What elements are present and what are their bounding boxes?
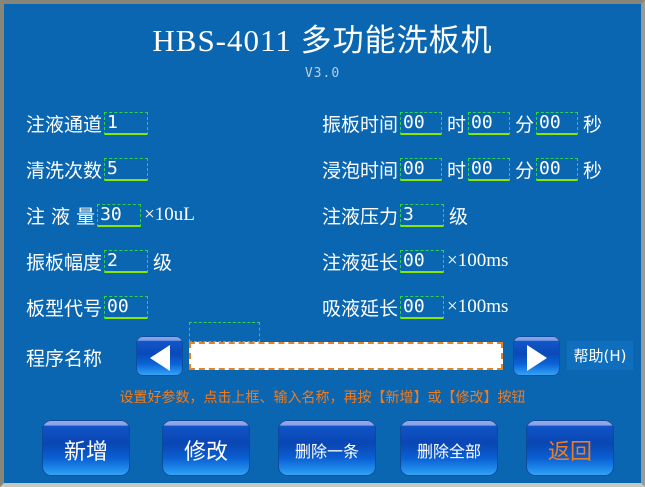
input-plate-code[interactable]: 00 — [104, 296, 148, 319]
delete-one-button[interactable]: 删除一条 — [278, 420, 376, 476]
input-injection-delay[interactable]: 00 — [400, 250, 444, 273]
left-parameter-column: 注液通道 1 清洗次数 5 注 液 量 30 ×10uL 振板幅度 2 级 板型… — [26, 100, 326, 330]
param-row-injection-volume: 注 液 量 30 ×10uL — [26, 192, 326, 238]
unit-aspiration-delay: ×100ms — [446, 296, 508, 318]
action-button-bar: 新增 修改 删除一条 删除全部 返回 — [4, 420, 641, 482]
program-name-row: 程序名称 帮助(H) — [26, 336, 641, 378]
page-title: HBS-4011 多功能洗板机 — [4, 22, 641, 60]
input-soak-time-seconds[interactable]: 00 — [536, 158, 578, 181]
unit-injection-delay: ×100ms — [446, 250, 508, 272]
next-program-button[interactable] — [513, 336, 560, 376]
title-bar: HBS-4011 多功能洗板机 — [4, 22, 641, 60]
param-row-soak-time: 浸泡时间 00 时 00 分 00 秒 — [322, 146, 641, 192]
input-soak-time-hours[interactable]: 00 — [400, 158, 442, 181]
program-name-focus-indicator — [189, 322, 260, 342]
input-wash-count[interactable]: 5 — [104, 158, 148, 181]
label-soak-time: 浸泡时间 — [322, 156, 398, 183]
delete-all-button[interactable]: 删除全部 — [400, 420, 498, 476]
delete-one-button-label: 删除一条 — [295, 438, 359, 462]
unit-shake-amplitude: 级 — [150, 248, 172, 275]
back-button[interactable]: 返回 — [526, 420, 614, 476]
input-injection-pressure[interactable]: 3 — [400, 204, 444, 227]
param-row-plate-code: 板型代号 00 — [26, 284, 326, 330]
unit-injection-volume: ×10uL — [143, 204, 195, 226]
delete-all-button-label: 删除全部 — [417, 438, 481, 462]
application-window: HBS-4011 多功能洗板机 V3.0 注液通道 1 清洗次数 5 注 液 量… — [0, 0, 645, 487]
param-row-shake-time: 振板时间 00 时 00 分 00 秒 — [322, 100, 641, 146]
hint-text: 设置好参数，点击上框、输入名称，再按【新增】或【修改】按钮 — [4, 387, 641, 407]
label-plate-code: 板型代号 — [26, 294, 102, 321]
param-row-aspiration-delay: 吸液延长 00 ×100ms — [322, 284, 641, 330]
input-soak-time-minutes[interactable]: 00 — [468, 158, 510, 181]
input-injection-volume[interactable]: 30 — [97, 204, 141, 227]
input-aspiration-delay[interactable]: 00 — [400, 296, 444, 319]
unit-injection-pressure: 级 — [446, 202, 468, 229]
unit-soak-time-minutes: 分 — [512, 156, 534, 183]
unit-soak-time-hours: 时 — [444, 156, 466, 183]
param-row-injection-pressure: 注液压力 3 级 — [322, 192, 641, 238]
input-shake-time-seconds[interactable]: 00 — [536, 112, 578, 135]
label-aspiration-delay: 吸液延长 — [322, 294, 398, 321]
param-row-injection-delay: 注液延长 00 ×100ms — [322, 238, 641, 284]
right-parameter-column: 振板时间 00 时 00 分 00 秒 浸泡时间 00 时 00 分 00 秒 … — [322, 100, 641, 330]
unit-shake-time-hours: 时 — [444, 110, 466, 137]
add-button-label: 新增 — [64, 434, 108, 466]
back-button-label: 返回 — [548, 434, 592, 466]
unit-soak-time-seconds: 秒 — [580, 156, 602, 183]
previous-program-button[interactable] — [136, 336, 183, 376]
unit-shake-time-minutes: 分 — [512, 110, 534, 137]
input-injection-channel[interactable]: 1 — [104, 112, 148, 135]
triangle-left-icon — [150, 345, 170, 371]
label-program-name: 程序名称 — [26, 344, 102, 371]
add-button[interactable]: 新增 — [42, 420, 130, 476]
param-row-shake-amplitude: 振板幅度 2 级 — [26, 238, 326, 284]
input-shake-amplitude[interactable]: 2 — [104, 250, 148, 273]
version-label: V3.0 — [4, 66, 641, 81]
modify-button-label: 修改 — [184, 434, 228, 466]
help-button[interactable]: 帮助(H) — [567, 341, 633, 370]
label-injection-volume: 注 液 量 — [26, 202, 95, 229]
label-wash-count: 清洗次数 — [26, 156, 102, 183]
input-shake-time-hours[interactable]: 00 — [400, 112, 442, 135]
param-row-wash-count: 清洗次数 5 — [26, 146, 326, 192]
label-injection-pressure: 注液压力 — [322, 202, 398, 229]
label-shake-time: 振板时间 — [322, 110, 398, 137]
program-name-input[interactable] — [189, 342, 503, 370]
unit-shake-time-seconds: 秒 — [580, 110, 602, 137]
param-row-injection-channel: 注液通道 1 — [26, 100, 326, 146]
input-shake-time-minutes[interactable]: 00 — [468, 112, 510, 135]
application-screen: HBS-4011 多功能洗板机 V3.0 注液通道 1 清洗次数 5 注 液 量… — [4, 4, 641, 483]
label-injection-delay: 注液延长 — [322, 248, 398, 275]
label-shake-amplitude: 振板幅度 — [26, 248, 102, 275]
modify-button[interactable]: 修改 — [162, 420, 250, 476]
triangle-right-icon — [527, 345, 547, 371]
label-injection-channel: 注液通道 — [26, 110, 102, 137]
